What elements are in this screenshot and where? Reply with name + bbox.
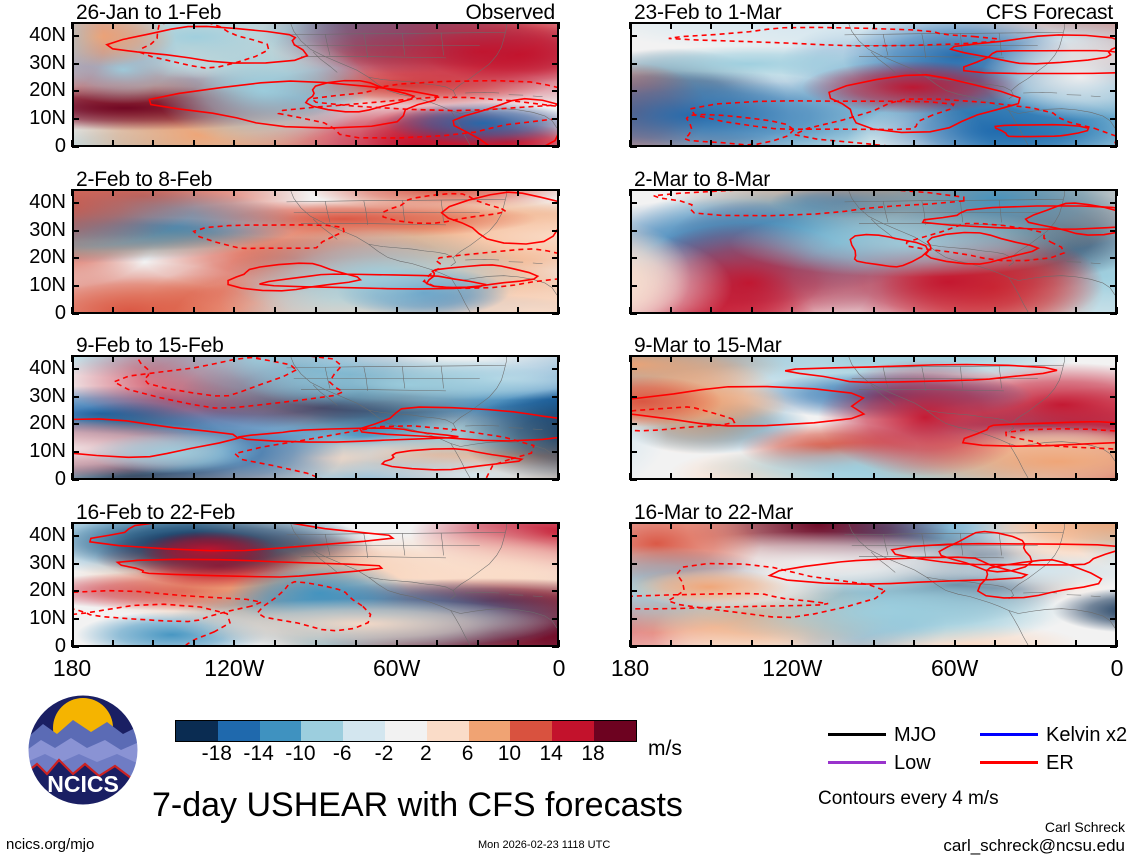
map-panel — [72, 355, 559, 480]
axis-tick — [832, 473, 834, 480]
y-axis-tick-label: 10N — [0, 607, 66, 630]
axis-tick — [274, 307, 276, 314]
axis-tick — [112, 140, 114, 147]
axis-tick — [396, 22, 398, 29]
axis-tick — [355, 355, 357, 362]
y-axis-tick-label: 20N — [0, 412, 66, 435]
axis-tick — [355, 22, 357, 29]
axis-tick — [913, 140, 915, 147]
axis-tick — [274, 355, 276, 362]
x-axis-tick-label: 0 — [1111, 655, 1124, 682]
colorbar-swatch — [260, 721, 302, 741]
axis-tick — [1110, 563, 1117, 565]
axis-tick — [751, 522, 753, 529]
axis-tick — [994, 307, 996, 314]
axis-tick — [396, 189, 398, 196]
axis-tick — [436, 355, 438, 362]
axis-tick — [436, 522, 438, 529]
y-axis-tick-label: 20N — [0, 579, 66, 602]
colorbar-swatch — [427, 721, 469, 741]
axis-tick — [477, 189, 479, 196]
axis-tick — [233, 189, 235, 196]
axis-tick — [670, 189, 672, 196]
axis-tick — [1110, 118, 1117, 120]
axis-tick — [233, 473, 235, 480]
x-axis-tick-label: 120W — [762, 655, 822, 682]
axis-tick — [751, 140, 753, 147]
axis-tick — [315, 473, 317, 480]
axis-tick — [832, 22, 834, 29]
axis-tick — [193, 189, 195, 196]
legend-line-mjo — [828, 733, 886, 736]
axis-tick — [112, 473, 114, 480]
axis-tick — [873, 307, 875, 314]
axis-tick — [832, 355, 834, 362]
axis-tick — [517, 355, 519, 362]
logo-text: NCICS — [47, 771, 119, 797]
axis-tick — [552, 90, 559, 92]
axis-tick — [1110, 63, 1117, 65]
y-axis-tick-label: 30N — [0, 52, 66, 75]
axis-tick — [1110, 368, 1117, 370]
y-axis-tick-label: 40N — [0, 24, 66, 47]
axis-tick — [477, 307, 479, 314]
map-panel — [630, 355, 1117, 480]
legend-label: Kelvin x2 — [1046, 724, 1127, 747]
axis-tick — [629, 22, 631, 29]
axis-tick — [791, 640, 793, 647]
axis-tick — [954, 307, 956, 314]
axis-tick — [913, 522, 915, 529]
map-panel — [630, 189, 1117, 314]
axis-tick — [72, 451, 79, 453]
axis-tick — [436, 640, 438, 647]
axis-tick — [994, 22, 996, 29]
axis-tick — [552, 257, 559, 259]
y-axis-tick-label: 0 — [0, 468, 66, 491]
axis-tick — [629, 189, 631, 196]
axis-tick — [152, 307, 154, 314]
axis-tick — [517, 473, 519, 480]
axis-tick — [233, 307, 235, 314]
axis-tick — [315, 355, 317, 362]
axis-tick — [1035, 307, 1037, 314]
author-email: carl_schreck@ncsu.edu — [943, 836, 1125, 856]
axis-tick — [112, 22, 114, 29]
axis-tick — [72, 313, 79, 315]
axis-tick — [630, 202, 637, 204]
colorbar-tick-label: 18 — [581, 742, 604, 766]
axis-tick — [558, 355, 560, 362]
y-axis-tick-label: 40N — [0, 357, 66, 380]
colorbar-units: m/s — [648, 737, 682, 761]
axis-tick — [751, 640, 753, 647]
axis-tick — [1075, 140, 1077, 147]
axis-tick — [477, 355, 479, 362]
axis-tick — [152, 522, 154, 529]
axis-tick — [630, 451, 637, 453]
axis-tick — [558, 473, 560, 480]
axis-tick — [1110, 423, 1117, 425]
axis-tick — [552, 230, 559, 232]
axis-tick — [751, 307, 753, 314]
axis-tick — [112, 640, 114, 647]
axis-tick — [629, 640, 631, 647]
axis-tick — [670, 355, 672, 362]
timestamp: Mon 2026-02-23 1118 UTC — [478, 839, 610, 851]
x-axis-tick-label: 180 — [611, 655, 649, 682]
axis-tick — [1110, 285, 1117, 287]
axis-tick — [913, 189, 915, 196]
axis-tick — [552, 423, 559, 425]
axis-tick — [832, 189, 834, 196]
axis-tick — [1075, 189, 1077, 196]
colorbar-swatch — [385, 721, 427, 741]
axis-tick — [954, 473, 956, 480]
axis-tick — [873, 522, 875, 529]
axis-tick — [274, 522, 276, 529]
axis-tick — [233, 522, 235, 529]
axis-tick — [315, 140, 317, 147]
x-axis-tick-label: 60W — [931, 655, 978, 682]
axis-tick — [954, 22, 956, 29]
axis-tick — [913, 640, 915, 647]
axis-tick — [873, 473, 875, 480]
axis-tick — [994, 640, 996, 647]
axis-tick — [1035, 22, 1037, 29]
axis-tick — [630, 35, 637, 37]
axis-tick — [1110, 257, 1117, 259]
y-axis-tick-label: 30N — [0, 552, 66, 575]
axis-tick — [552, 590, 559, 592]
axis-tick — [1116, 307, 1118, 314]
axis-tick — [72, 146, 79, 148]
axis-tick — [552, 63, 559, 65]
x-axis-tick-label: 0 — [553, 655, 566, 682]
y-axis-tick-label: 20N — [0, 246, 66, 269]
axis-tick — [558, 640, 560, 647]
colorbar-tick-label: -10 — [285, 742, 315, 766]
axis-tick — [670, 473, 672, 480]
axis-tick — [396, 522, 398, 529]
axis-tick — [152, 355, 154, 362]
colorbar-swatch — [301, 721, 343, 741]
axis-tick — [558, 22, 560, 29]
colorbar-tick-label: 6 — [462, 742, 474, 766]
axis-tick — [552, 618, 559, 620]
axis-tick — [873, 22, 875, 29]
axis-tick — [913, 355, 915, 362]
axis-tick — [274, 473, 276, 480]
axis-tick — [751, 189, 753, 196]
axis-tick — [954, 355, 956, 362]
y-axis-tick-label: 40N — [0, 524, 66, 547]
axis-tick — [629, 355, 631, 362]
axis-tick — [710, 640, 712, 647]
axis-tick — [1110, 451, 1117, 453]
axis-tick — [670, 140, 672, 147]
axis-tick — [1110, 590, 1117, 592]
axis-tick — [832, 307, 834, 314]
axis-tick — [832, 522, 834, 529]
legend-line-kelvin-x2 — [980, 733, 1038, 736]
axis-tick — [1075, 307, 1077, 314]
axis-tick — [873, 140, 875, 147]
axis-tick — [994, 473, 996, 480]
colorbar-tick-label: -14 — [243, 742, 273, 766]
axis-tick — [994, 355, 996, 362]
axis-tick — [274, 22, 276, 29]
axis-tick — [954, 522, 956, 529]
axis-tick — [630, 230, 637, 232]
axis-tick — [1035, 473, 1037, 480]
axis-tick — [1110, 618, 1117, 620]
y-axis-tick-label: 10N — [0, 107, 66, 130]
axis-tick — [629, 522, 631, 529]
axis-tick — [751, 355, 753, 362]
axis-tick — [558, 522, 560, 529]
axis-tick — [193, 140, 195, 147]
axis-tick — [1035, 140, 1037, 147]
axis-tick — [152, 640, 154, 647]
axis-tick — [710, 473, 712, 480]
axis-tick — [396, 473, 398, 480]
axis-tick — [193, 473, 195, 480]
axis-tick — [1110, 535, 1117, 537]
x-axis-tick-label: 120W — [204, 655, 264, 682]
colorbar-swatch — [552, 721, 594, 741]
axis-tick — [630, 368, 637, 370]
axis-tick — [710, 140, 712, 147]
y-axis-tick-label: 0 — [0, 135, 66, 158]
axis-tick — [396, 355, 398, 362]
axis-tick — [552, 396, 559, 398]
axis-tick — [791, 473, 793, 480]
map-panel — [72, 522, 559, 647]
axis-tick — [72, 285, 79, 287]
axis-tick — [355, 640, 357, 647]
axis-tick — [1110, 90, 1117, 92]
axis-tick — [1075, 22, 1077, 29]
axis-tick — [152, 473, 154, 480]
y-axis-tick-label: 0 — [0, 302, 66, 325]
axis-tick — [832, 140, 834, 147]
axis-tick — [72, 646, 79, 648]
axis-tick — [477, 473, 479, 480]
axis-tick — [913, 473, 915, 480]
axis-tick — [710, 355, 712, 362]
axis-tick — [72, 90, 79, 92]
axis-tick — [630, 146, 637, 148]
y-axis-tick-label: 20N — [0, 79, 66, 102]
axis-tick — [629, 140, 631, 147]
axis-tick — [152, 140, 154, 147]
axis-tick — [436, 307, 438, 314]
axis-tick — [315, 522, 317, 529]
axis-tick — [477, 140, 479, 147]
axis-tick — [72, 257, 79, 259]
axis-tick — [710, 189, 712, 196]
axis-tick — [72, 563, 79, 565]
colorbar-tick-label: 14 — [540, 742, 563, 766]
axis-tick — [1116, 189, 1118, 196]
axis-tick — [517, 140, 519, 147]
axis-tick — [233, 640, 235, 647]
axis-tick — [517, 640, 519, 647]
axis-tick — [1116, 473, 1118, 480]
ncics-logo: NCICS — [27, 694, 139, 806]
axis-tick — [71, 640, 73, 647]
axis-tick — [1116, 140, 1118, 147]
axis-tick — [72, 202, 79, 204]
colorbar-tick-label: -18 — [202, 742, 232, 766]
axis-tick — [72, 396, 79, 398]
axis-tick — [630, 563, 637, 565]
axis-tick — [629, 307, 631, 314]
axis-tick — [670, 22, 672, 29]
axis-tick — [1110, 396, 1117, 398]
axis-tick — [193, 22, 195, 29]
legend-line-low — [828, 761, 886, 764]
axis-tick — [71, 522, 73, 529]
colorbar-swatch — [218, 721, 260, 741]
axis-tick — [1075, 522, 1077, 529]
axis-tick — [355, 307, 357, 314]
axis-tick — [552, 368, 559, 370]
axis-tick — [274, 189, 276, 196]
axis-tick — [72, 368, 79, 370]
axis-tick — [552, 535, 559, 537]
axis-tick — [436, 140, 438, 147]
axis-tick — [552, 202, 559, 204]
axis-tick — [630, 618, 637, 620]
axis-tick — [630, 90, 637, 92]
axis-tick — [1075, 473, 1077, 480]
axis-tick — [1035, 355, 1037, 362]
axis-tick — [72, 590, 79, 592]
axis-tick — [517, 522, 519, 529]
axis-tick — [72, 479, 79, 481]
axis-tick — [315, 22, 317, 29]
axis-tick — [630, 590, 637, 592]
axis-tick — [112, 355, 114, 362]
axis-tick — [112, 307, 114, 314]
axis-tick — [274, 640, 276, 647]
axis-tick — [396, 140, 398, 147]
axis-tick — [71, 355, 73, 362]
axis-tick — [436, 189, 438, 196]
axis-tick — [193, 307, 195, 314]
colorbar-tick-label: -6 — [333, 742, 352, 766]
axis-tick — [873, 189, 875, 196]
axis-tick — [873, 355, 875, 362]
axis-tick — [791, 355, 793, 362]
axis-tick — [1035, 189, 1037, 196]
axis-tick — [558, 307, 560, 314]
y-axis-tick-label: 30N — [0, 219, 66, 242]
colorbar-tick-label: 2 — [420, 742, 432, 766]
axis-tick — [72, 618, 79, 620]
axis-tick — [913, 307, 915, 314]
legend-label: MJO — [894, 724, 936, 747]
legend-line-er — [980, 761, 1038, 764]
axis-tick — [630, 423, 637, 425]
axis-tick — [1110, 202, 1117, 204]
axis-tick — [274, 140, 276, 147]
axis-tick — [629, 473, 631, 480]
axis-tick — [72, 535, 79, 537]
axis-tick — [630, 479, 637, 481]
axis-tick — [558, 189, 560, 196]
axis-tick — [994, 189, 996, 196]
axis-tick — [791, 140, 793, 147]
x-axis-tick-label: 180 — [53, 655, 91, 682]
axis-tick — [233, 22, 235, 29]
axis-tick — [355, 522, 357, 529]
colorbar-tick-label: 10 — [498, 742, 521, 766]
axis-tick — [954, 640, 956, 647]
axis-tick — [71, 307, 73, 314]
axis-tick — [552, 451, 559, 453]
axis-tick — [152, 189, 154, 196]
axis-tick — [72, 63, 79, 65]
axis-tick — [630, 646, 637, 648]
axis-tick — [355, 473, 357, 480]
y-axis-tick-label: 10N — [0, 274, 66, 297]
axis-tick — [630, 535, 637, 537]
axis-tick — [913, 22, 915, 29]
axis-tick — [670, 307, 672, 314]
axis-tick — [355, 140, 357, 147]
axis-tick — [71, 22, 73, 29]
y-axis-tick-label: 40N — [0, 191, 66, 214]
axis-tick — [1116, 22, 1118, 29]
axis-tick — [477, 522, 479, 529]
axis-tick — [477, 640, 479, 647]
axis-tick — [436, 473, 438, 480]
axis-tick — [152, 22, 154, 29]
axis-tick — [670, 640, 672, 647]
axis-tick — [112, 189, 114, 196]
axis-tick — [791, 522, 793, 529]
axis-tick — [552, 35, 559, 37]
axis-tick — [193, 640, 195, 647]
axis-tick — [552, 118, 559, 120]
colorbar-swatch — [594, 721, 636, 741]
legend-label: ER — [1046, 752, 1074, 775]
axis-tick — [630, 257, 637, 259]
axis-tick — [1110, 35, 1117, 37]
axis-tick — [791, 189, 793, 196]
axis-tick — [71, 140, 73, 147]
axis-tick — [355, 189, 357, 196]
axis-tick — [72, 230, 79, 232]
axis-tick — [832, 640, 834, 647]
axis-tick — [791, 22, 793, 29]
axis-tick — [1116, 355, 1118, 362]
colorbar-swatch — [510, 721, 552, 741]
axis-tick — [193, 522, 195, 529]
axis-tick — [630, 285, 637, 287]
axis-tick — [751, 22, 753, 29]
axis-tick — [954, 189, 956, 196]
colorbar-swatch — [343, 721, 385, 741]
axis-tick — [994, 522, 996, 529]
axis-tick — [1116, 522, 1118, 529]
axis-tick — [630, 118, 637, 120]
contour-note: Contours every 4 m/s — [818, 788, 999, 810]
axis-tick — [1075, 640, 1077, 647]
